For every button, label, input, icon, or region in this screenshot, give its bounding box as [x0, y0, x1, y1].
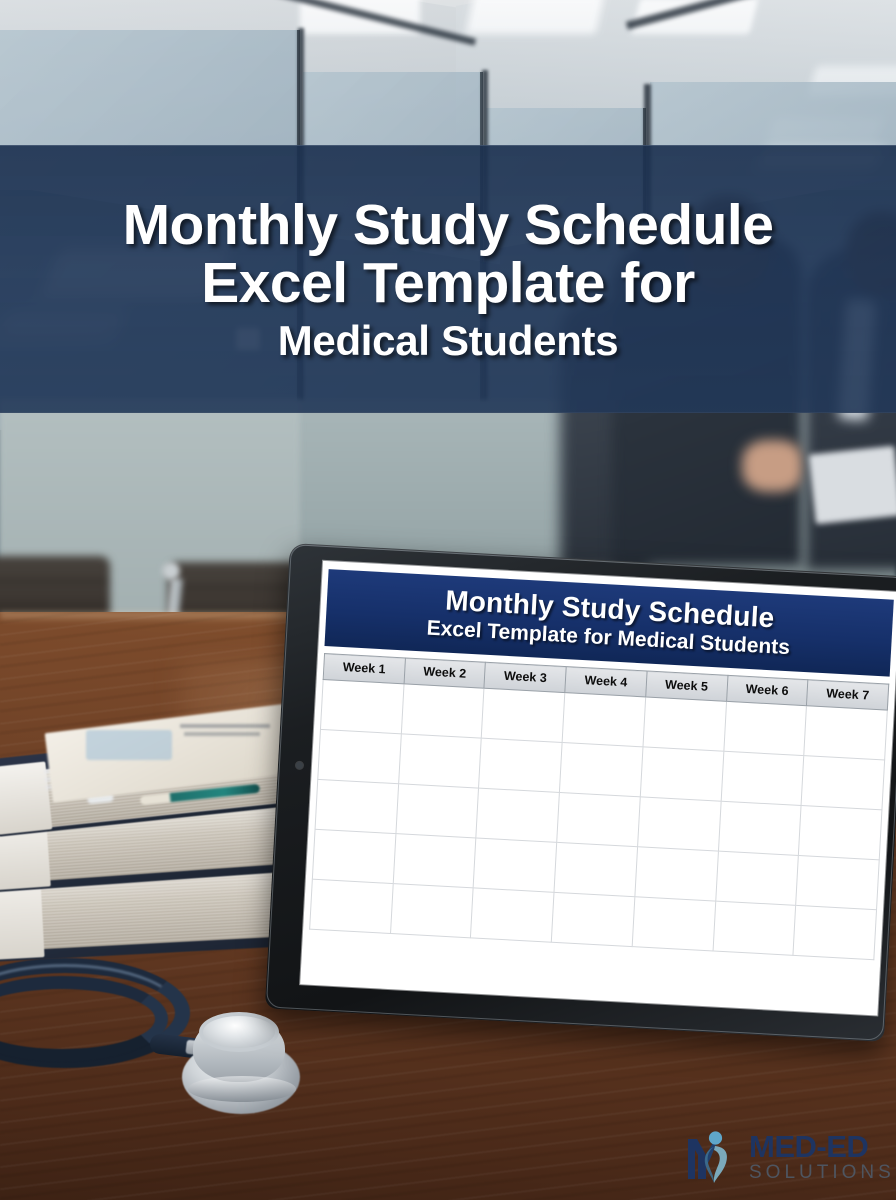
chair-knob [162, 562, 180, 580]
table-cell[interactable] [715, 852, 798, 906]
table-cell[interactable] [471, 888, 554, 942]
headline-line-2: Excel Template for [201, 254, 695, 312]
paper-sheet-text [180, 724, 270, 728]
table-cell[interactable] [635, 847, 718, 901]
table-cell[interactable] [554, 843, 637, 897]
title-banner: Monthly Study Schedule Excel Template fo… [0, 145, 896, 413]
logo-tagline: SOLUTIONS [749, 1163, 895, 1182]
table-cell[interactable] [390, 884, 473, 938]
table-cell[interactable] [479, 739, 562, 793]
table-body [310, 680, 888, 960]
table-cell[interactable] [473, 838, 556, 892]
schedule-table[interactable]: Week 1 Week 2 Week 3 Week 4 Week 5 Week … [309, 653, 889, 960]
table-cell[interactable] [793, 906, 876, 960]
logo-wordmark: MED-ED SOLUTIONS [749, 1129, 895, 1182]
table-cell[interactable] [559, 743, 642, 797]
table-cell[interactable] [393, 834, 476, 888]
book-stack [0, 700, 310, 960]
table-cell[interactable] [799, 806, 882, 860]
table-cell[interactable] [476, 789, 559, 843]
paper-sheet-image [86, 730, 172, 760]
table-cell[interactable] [557, 793, 640, 847]
med-ed-logo-icon [684, 1125, 742, 1185]
table-cell[interactable] [632, 897, 715, 951]
table-cell[interactable] [482, 689, 565, 743]
headline-line-1: Monthly Study Schedule [123, 196, 774, 254]
stethoscope-rim [188, 1076, 296, 1102]
table-cell[interactable] [721, 752, 804, 806]
table-cell[interactable] [796, 856, 879, 910]
table-cell[interactable] [315, 780, 398, 834]
table-cell[interactable] [718, 802, 801, 856]
table-cell[interactable] [723, 702, 806, 756]
table-cell[interactable] [398, 734, 481, 788]
blurred-paper-document [809, 446, 896, 525]
table-cell[interactable] [804, 706, 887, 760]
brand-logo[interactable]: MED-ED SOLUTIONS [684, 1122, 884, 1188]
table-cell[interactable] [640, 747, 723, 801]
table-cell[interactable] [396, 784, 479, 838]
table-cell[interactable] [551, 893, 634, 947]
headline-line-3: Medical Students [278, 319, 619, 363]
table-cell[interactable] [401, 684, 484, 738]
tablet-screen[interactable]: Monthly Study Schedule Excel Template fo… [300, 561, 896, 1016]
table-cell[interactable] [713, 901, 796, 955]
blurred-person-hand [742, 440, 804, 492]
table-cell[interactable] [637, 797, 720, 851]
table-cell[interactable] [562, 693, 645, 747]
stethoscope-diaphragm [199, 1012, 279, 1052]
table-cell[interactable] [801, 756, 884, 810]
table-cell[interactable] [318, 730, 401, 784]
paper-sheet-text [184, 732, 260, 736]
table-cell[interactable] [310, 880, 393, 934]
table-cell[interactable] [312, 830, 395, 884]
tablet-device[interactable]: Monthly Study Schedule Excel Template fo… [265, 543, 896, 1042]
table-cell[interactable] [643, 697, 726, 751]
logo-brand-name: MED-ED [749, 1131, 895, 1162]
table-cell[interactable] [320, 680, 403, 734]
